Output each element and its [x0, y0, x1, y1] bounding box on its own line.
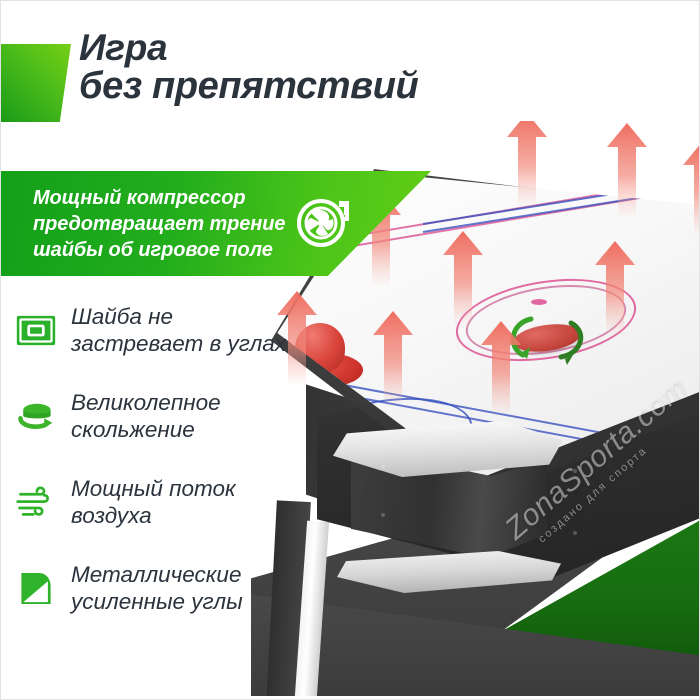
page-title: Игра без препятствий: [79, 29, 418, 107]
air-arrow-icon: [593, 241, 637, 337]
air-arrow-icon: [479, 321, 523, 417]
feature-label: Шайба не застревает в углах: [71, 303, 286, 357]
playing-field-icon: [13, 307, 59, 353]
feature-label: Мощный поток воздуха: [71, 475, 236, 529]
air-arrow-icon: [681, 141, 700, 237]
compressor-banner-text: Мощный компрессор предотвращает трение ш…: [33, 185, 285, 263]
air-arrow-icon: [505, 121, 549, 209]
screw: [381, 465, 385, 469]
screw: [381, 513, 385, 517]
feature-label: Металлические усиленные углы: [71, 561, 243, 615]
title-line-1: Игра: [79, 29, 418, 67]
air-flow-icon: [13, 479, 59, 525]
screw: [573, 531, 577, 535]
title-line-2: без препятствий: [79, 67, 418, 107]
page-header: Игра без препятствий: [1, 19, 421, 129]
feature-item-metal-corners: Металлические усиленные углы: [13, 559, 333, 621]
feature-item-no-stuck-puck: Шайба не застревает в углах: [13, 301, 333, 363]
field-line-blue-top-2: [423, 184, 700, 233]
promo-banner-page: Игра без препятствий Мощный компрессор п…: [0, 0, 700, 700]
air-arrow-icon: [371, 311, 415, 407]
feature-list: Шайба не застревает в углах Великолепное…: [13, 301, 333, 645]
feature-item-great-glide: Великолепное скольжение: [13, 387, 333, 449]
feature-label: Великолепное скольжение: [71, 389, 221, 443]
field-line-blue-top-1: [423, 176, 700, 225]
air-arrow-icon: [605, 123, 649, 219]
air-arrow-icon: [441, 231, 485, 327]
turbine-compressor-icon: [295, 195, 355, 251]
accent-parallelogram: [1, 44, 71, 122]
screw: [573, 469, 577, 473]
puck-slide-icon: [13, 393, 59, 439]
metal-corner-icon: [13, 565, 59, 611]
feature-item-air-flow: Мощный поток воздуха: [13, 473, 333, 535]
